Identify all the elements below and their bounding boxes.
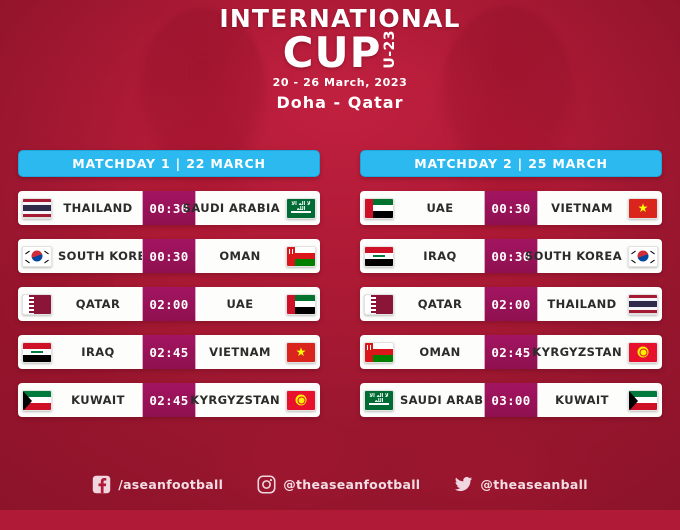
event-title-row: CUP U-23 (0, 30, 680, 73)
home-team-name: QATAR (394, 297, 484, 311)
home-team-name: KUWAIT (52, 393, 142, 407)
match-time: 00:30 (142, 239, 196, 273)
flag-oman-icon (364, 342, 394, 363)
match-row[interactable]: KUWAIT 02:45 KYRGYZSTAN (18, 383, 320, 417)
flag-kyrgyzstan-icon (286, 390, 316, 411)
match-time: 02:00 (484, 287, 538, 321)
away-team-name: OMAN (196, 249, 286, 263)
home-team-name: IRAQ (52, 345, 142, 359)
match-row[interactable]: IRAQ 00:30 SOUTH KOREA (360, 239, 662, 273)
twitter-icon (454, 475, 473, 494)
away-team-name: UAE (196, 297, 286, 311)
social-instagram[interactable]: @theaseanfootball (257, 475, 420, 494)
match-row[interactable]: THAILAND 00:30 SAUDI ARABIA لا اله الا ا… (18, 191, 320, 225)
home-team-name: QATAR (52, 297, 142, 311)
home-side: IRAQ (360, 239, 484, 273)
away-side: KUWAIT (538, 383, 662, 417)
flag-iraq-icon (364, 246, 394, 267)
event-age-group: U-23 (383, 30, 397, 69)
home-side: IRAQ (18, 335, 142, 369)
matchday-header-1: MATCHDAY 1 | 22 MARCH (18, 150, 320, 177)
away-team-name: KYRGYZSTAN (528, 345, 628, 359)
match-row[interactable]: UAE 00:30 VIETNAM ★ (360, 191, 662, 225)
match-row[interactable]: SOUTH KOREA 00:30 OMAN (18, 239, 320, 273)
event-dates: 20 - 26 March, 2023 (0, 76, 680, 89)
match-list-1: THAILAND 00:30 SAUDI ARABIA لا اله الا ا… (18, 191, 320, 417)
social-facebook[interactable]: /aseanfootball (92, 475, 223, 494)
event-location: Doha - Qatar (0, 93, 680, 112)
flag-qatar-icon (22, 294, 52, 315)
away-side: UAE (196, 287, 320, 321)
flag-saudi-script: لا اله الا الله (287, 202, 315, 212)
home-side: لا اله الا الله SAUDI ARABIA (360, 383, 484, 417)
flag-uae-icon (364, 198, 394, 219)
flag-saudi-arabia-icon: لا اله الا الله (364, 390, 394, 411)
away-team-name: KYRGYZSTAN (186, 393, 286, 407)
flag-oman-icon (286, 246, 316, 267)
home-side: QATAR (360, 287, 484, 321)
away-team-name: VIETNAM (196, 345, 286, 359)
match-time: 03:00 (484, 383, 538, 417)
flag-vietnam-icon: ★ (286, 342, 316, 363)
flag-saudi-arabia-icon: لا اله الا الله (286, 198, 316, 219)
matchday-column-2: MATCHDAY 2 | 25 MARCH UAE 00:30 VIETNAM … (360, 150, 662, 417)
away-side: VIETNAM ★ (196, 335, 320, 369)
away-side: KYRGYZSTAN (196, 383, 320, 417)
match-time: 00:30 (484, 191, 538, 225)
away-side: THAILAND (538, 287, 662, 321)
home-side: THAILAND (18, 191, 142, 225)
away-side: OMAN (196, 239, 320, 273)
match-time: 02:45 (142, 335, 196, 369)
home-team-name: THAILAND (52, 201, 142, 215)
match-row[interactable]: QATAR 02:00 THAILAND (360, 287, 662, 321)
flag-vietnam-icon: ★ (628, 198, 658, 219)
flag-kuwait-icon (22, 390, 52, 411)
matchday-column-1: MATCHDAY 1 | 22 MARCH THAILAND 00:30 SAU… (18, 150, 320, 417)
away-team-name: SOUTH KOREA (521, 249, 628, 263)
home-side: OMAN (360, 335, 484, 369)
flag-iraq-icon (22, 342, 52, 363)
instagram-icon (257, 475, 276, 494)
away-side: KYRGYZSTAN (538, 335, 662, 369)
home-side: KUWAIT (18, 383, 142, 417)
away-side: VIETNAM ★ (538, 191, 662, 225)
facebook-handle: /aseanfootball (118, 477, 223, 492)
home-side: QATAR (18, 287, 142, 321)
flag-thailand-icon (22, 198, 52, 219)
away-team-name: VIETNAM (538, 201, 628, 215)
twitter-handle: @theaseanball (480, 477, 587, 492)
match-row[interactable]: IRAQ 02:45 VIETNAM ★ (18, 335, 320, 369)
flag-south-korea-icon (22, 246, 52, 267)
event-title-line2: CUP (283, 33, 382, 73)
instagram-handle: @theaseanfootball (283, 477, 420, 492)
flag-south-korea-icon (628, 246, 658, 267)
social-twitter[interactable]: @theaseanball (454, 475, 587, 494)
home-side: UAE (360, 191, 484, 225)
match-list-2: UAE 00:30 VIETNAM ★ IR (360, 191, 662, 417)
match-row[interactable]: QATAR 02:00 UAE (18, 287, 320, 321)
match-row[interactable]: OMAN 02:45 KYRGYZSTAN (360, 335, 662, 369)
flag-qatar-icon (364, 294, 394, 315)
match-time: 02:00 (142, 287, 196, 321)
away-side: SOUTH KOREA (538, 239, 662, 273)
flag-uae-icon (286, 294, 316, 315)
facebook-icon (92, 475, 111, 494)
home-side: SOUTH KOREA (18, 239, 142, 273)
home-team-name: OMAN (394, 345, 484, 359)
flag-kuwait-icon (628, 390, 658, 411)
away-team-name: THAILAND (538, 297, 628, 311)
event-logo: INTERNATIONAL CUP U-23 20 - 26 March, 20… (0, 6, 680, 112)
fixtures-container: MATCHDAY 1 | 22 MARCH THAILAND 00:30 SAU… (0, 150, 680, 417)
matchday-header-2: MATCHDAY 2 | 25 MARCH (360, 150, 662, 177)
match-row[interactable]: لا اله الا الله SAUDI ARABIA 03:00 KUWAI… (360, 383, 662, 417)
flag-saudi-script: لا اله الا الله (365, 394, 393, 404)
home-team-name: UAE (394, 201, 484, 215)
flag-kyrgyzstan-icon (628, 342, 658, 363)
away-team-name: KUWAIT (538, 393, 628, 407)
home-team-name: IRAQ (394, 249, 484, 263)
social-footer: /aseanfootball @theaseanfootball @thease… (0, 475, 680, 494)
away-team-name: SAUDI ARABIA (179, 201, 286, 215)
away-side: SAUDI ARABIA لا اله الا الله (196, 191, 320, 225)
flag-thailand-icon (628, 294, 658, 315)
